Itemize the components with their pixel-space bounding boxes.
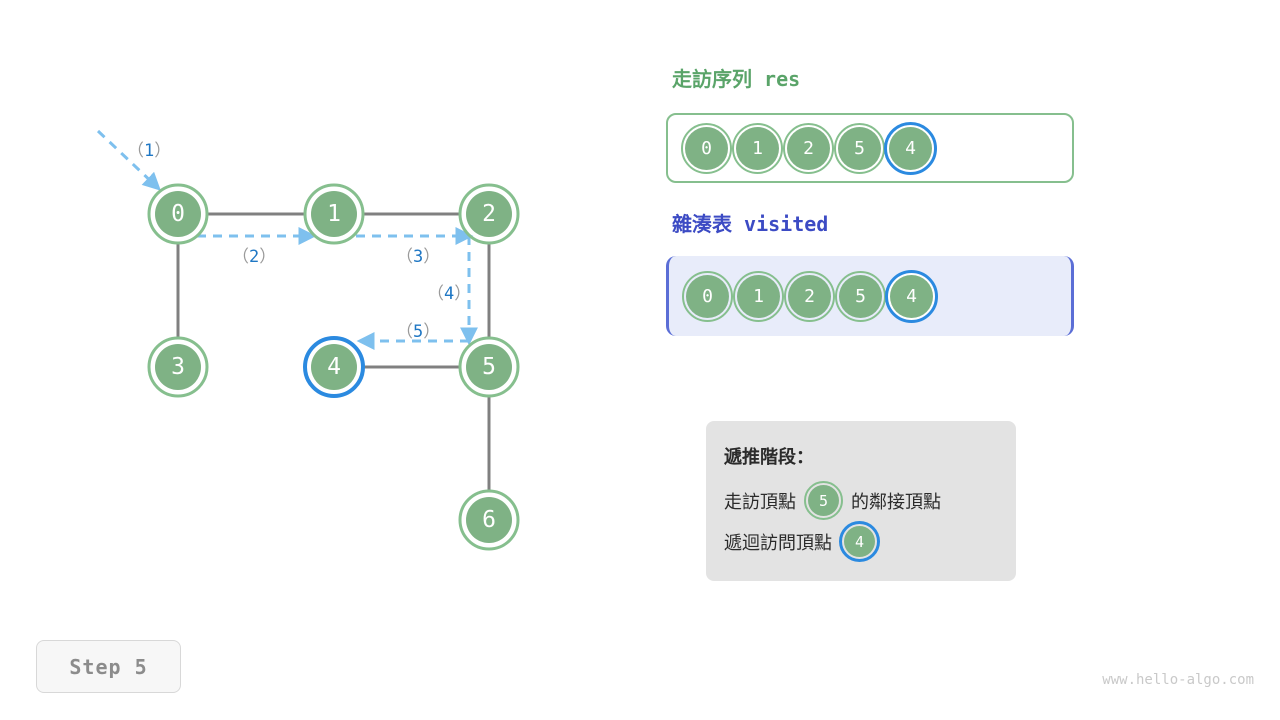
res-title: 走訪序列 res <box>672 63 800 92</box>
visited-cell-1: 1 <box>737 275 780 318</box>
visited-cell-0: 0 <box>686 275 729 318</box>
visited-array: 01254 <box>666 256 1074 336</box>
info-line-1-before: 走訪頂點 <box>724 488 796 514</box>
info-chip-recursive-vertex: 4 <box>844 526 875 557</box>
traversal-label-2: （2） <box>232 242 276 267</box>
graph-node-4[interactable] <box>311 344 357 390</box>
visited-cell-2: 2 <box>788 275 831 318</box>
info-box: 遞推階段： 走訪頂點 5 的鄰接頂點 遞迴訪問頂點 4 <box>706 421 1016 581</box>
res-array: 01254 <box>666 113 1074 183</box>
info-line-2-before: 遞迴訪問頂點 <box>724 529 832 555</box>
graph-node-3[interactable] <box>155 344 201 390</box>
res-cell-2: 2 <box>787 127 830 170</box>
visited-cell-4: 4 <box>890 275 933 318</box>
traversal-arrows <box>98 131 469 341</box>
info-line-1-after: 的鄰接頂點 <box>851 488 941 514</box>
graph-node-5[interactable] <box>466 344 512 390</box>
traversal-label-5: （5） <box>396 317 440 342</box>
info-chip-visit-vertex: 5 <box>808 485 839 516</box>
step-badge: Step 5 <box>36 640 181 693</box>
state-panel: 走訪序列 res 01254 雜湊表 visited 01254 遞推階段： 走… <box>640 0 1280 720</box>
watermark: www.hello-algo.com <box>1102 672 1254 688</box>
graph-node-2[interactable] <box>466 191 512 237</box>
res-cell-4: 4 <box>889 127 932 170</box>
diagram-root: 0123456 （1）（2）（3）（4）（5） 走訪序列 res 01254 雜… <box>0 0 1280 720</box>
info-line-2: 遞迴訪問頂點 4 <box>724 526 1016 557</box>
visited-title: 雜湊表 visited <box>672 208 828 237</box>
graph-node-6[interactable] <box>466 497 512 543</box>
graph-node-0[interactable] <box>155 191 201 237</box>
res-cell-1: 1 <box>736 127 779 170</box>
graph-canvas <box>0 0 640 720</box>
res-cell-0: 0 <box>685 127 728 170</box>
visited-cell-3: 5 <box>839 275 882 318</box>
traversal-label-1: （1） <box>127 136 171 161</box>
info-title: 遞推階段： <box>724 443 1016 469</box>
info-line-1: 走訪頂點 5 的鄰接頂點 <box>724 485 1016 516</box>
graph-nodes <box>149 185 518 549</box>
traversal-label-4: （4） <box>427 279 471 304</box>
traversal-label-3: （3） <box>396 242 440 267</box>
graph-node-1[interactable] <box>311 191 357 237</box>
graph-panel: 0123456 （1）（2）（3）（4）（5） <box>0 0 640 720</box>
res-cell-3: 5 <box>838 127 881 170</box>
